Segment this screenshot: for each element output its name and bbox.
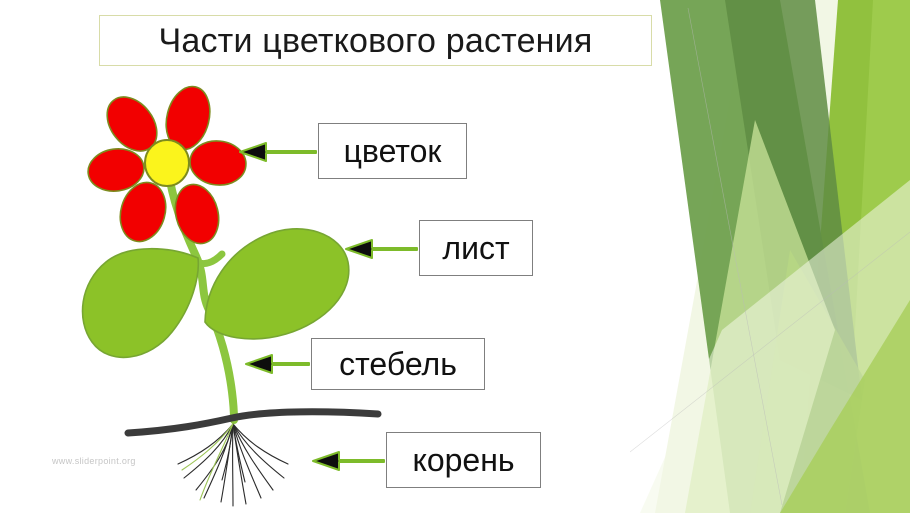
arrow-leaf (346, 240, 417, 258)
callout-label-stem: стебель (339, 348, 457, 380)
facet-shape-lightest (640, 180, 910, 513)
facet-shape-accent (780, 300, 910, 513)
page-title: Части цветкового растения (159, 24, 593, 58)
callout-box-stem[interactable]: стебель (311, 338, 485, 390)
facet-shape-palest (655, 0, 910, 513)
slide-canvas: Части цветкового растения (0, 0, 910, 513)
flower-petal-4 (188, 138, 248, 188)
plant-stem (168, 168, 234, 420)
stem-node (197, 254, 222, 264)
facet-shape-medium (660, 0, 870, 513)
callout-label-flower: цветок (344, 135, 442, 167)
facet-shape-pale (690, 0, 910, 513)
facet-shape-light (685, 120, 835, 513)
facet-decoration (630, 0, 910, 513)
arrow-stem (246, 355, 309, 373)
facet-crease-2 (630, 232, 910, 452)
root-system (178, 424, 288, 506)
facet-shape-dark (725, 0, 862, 400)
arrow-flower (240, 143, 316, 161)
watermark-text: www.sliderpoint.org (52, 456, 136, 466)
flower-petal-2 (160, 82, 216, 154)
flower-petal-6 (169, 180, 224, 248)
flower-petals (85, 82, 248, 248)
facet-shape-mid-low (750, 250, 865, 513)
plant-leaf-left (83, 249, 199, 358)
arrow-root (313, 452, 384, 470)
root-system-pale (182, 424, 233, 500)
callout-box-root[interactable]: корень (386, 432, 541, 488)
plant-leaf-right (205, 229, 349, 339)
ground-line (128, 412, 378, 433)
flower-petal-1 (97, 87, 167, 160)
title-box: Части цветкового растения (99, 15, 652, 66)
facet-crease-1 (688, 8, 782, 505)
flower-petal-3 (85, 145, 146, 194)
facet-shape-bright-2 (845, 0, 910, 513)
flower-petal-5 (114, 177, 173, 247)
callout-box-leaf[interactable]: лист (419, 220, 533, 276)
facet-shape-bright (800, 0, 910, 513)
flower-center (145, 140, 189, 186)
callout-label-root: корень (412, 444, 514, 476)
callout-label-leaf: лист (442, 232, 509, 264)
callout-box-flower[interactable]: цветок (318, 123, 467, 179)
